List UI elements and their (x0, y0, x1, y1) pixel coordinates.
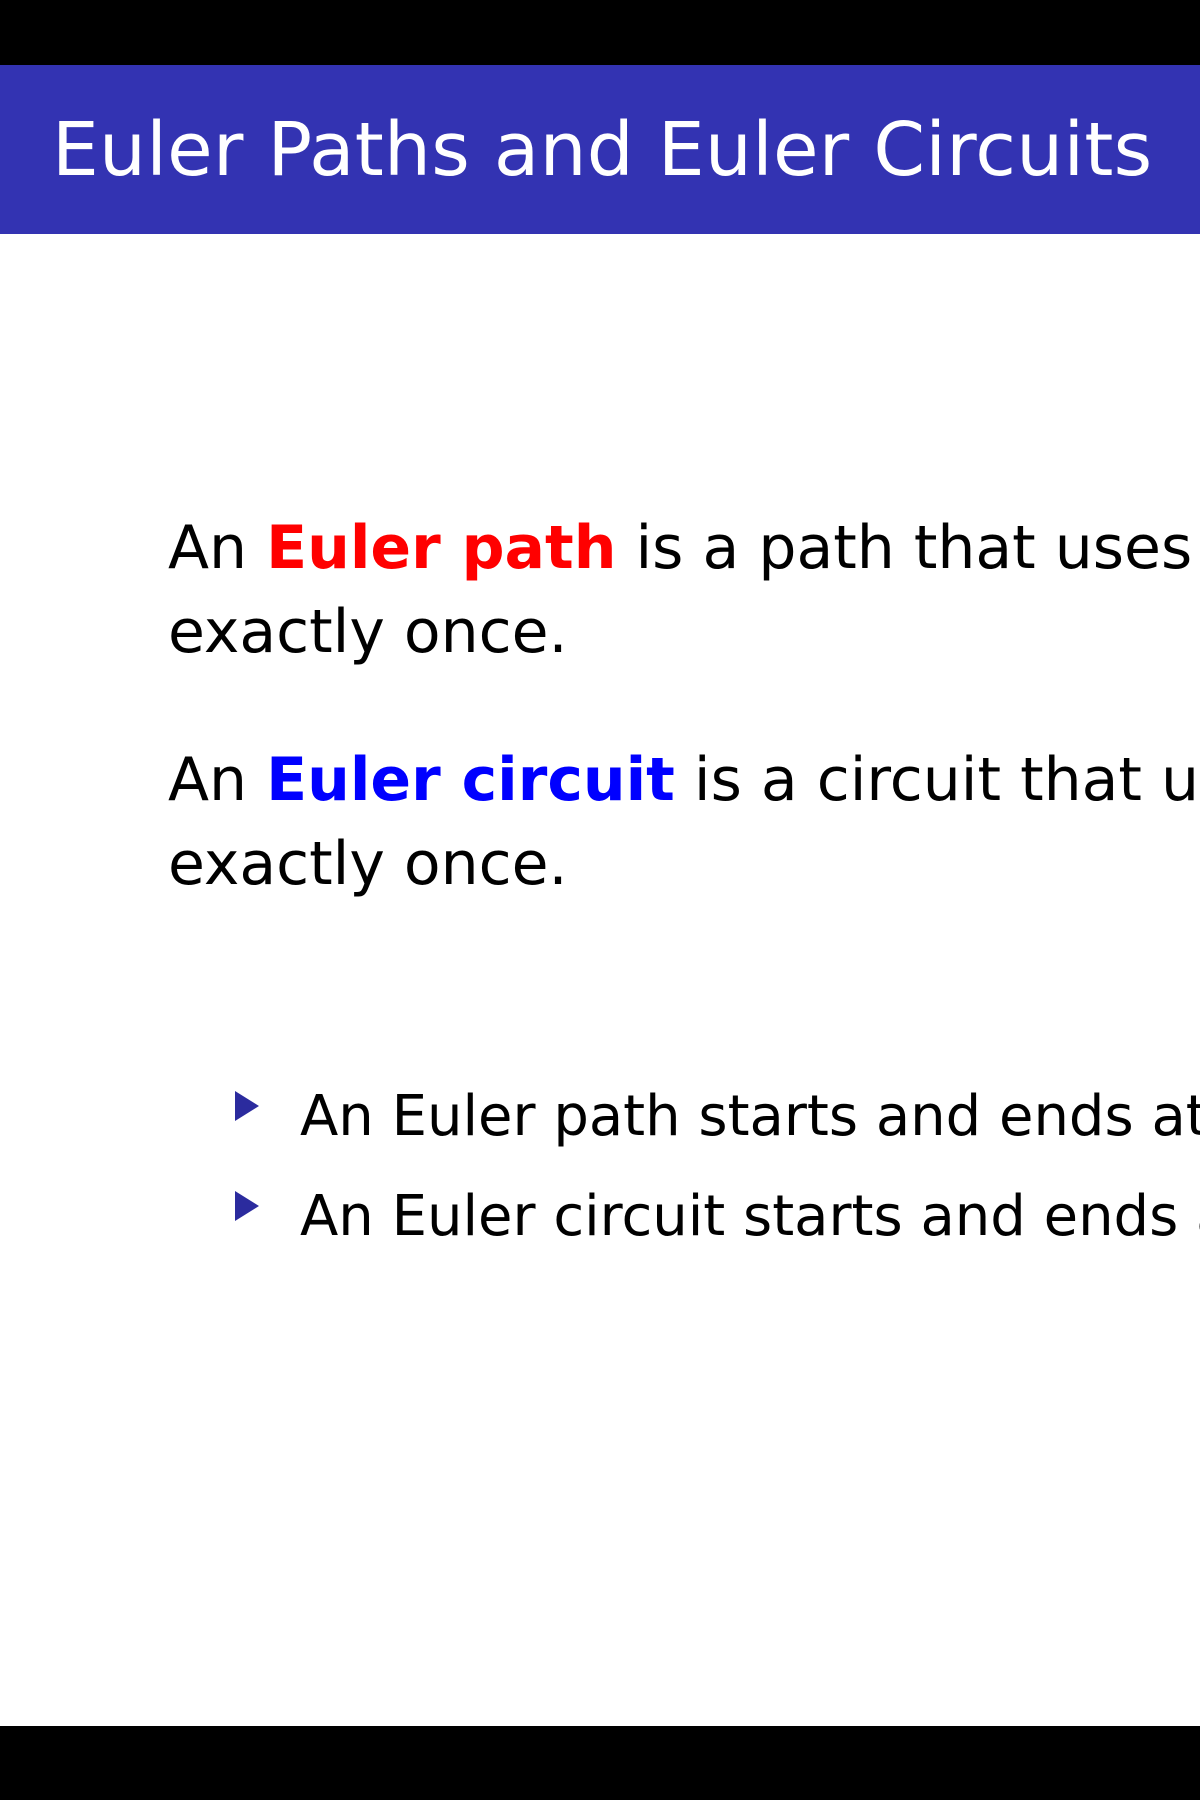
keyword-euler-path: Euler path (266, 513, 616, 583)
paragraph-euler-circuit-line-1: An Euler circuit is a circuit that uses … (168, 738, 1200, 822)
paragraph-euler-circuit-prefix: An (168, 745, 266, 815)
triangle-right-bullet-icon (232, 1189, 262, 1223)
paragraph-euler-path-suffix: is a path that uses every edge of a grap… (616, 513, 1200, 583)
triangle-right-bullet-icon (232, 1089, 262, 1123)
keyword-euler-circuit: Euler circuit (266, 745, 675, 815)
paragraph-euler-circuit-suffix: is a circuit that uses every edge of a g… (675, 745, 1200, 815)
paragraph-euler-circuit-line-2: exactly once. (168, 822, 1200, 906)
slide-stage: Euler Paths and Euler Circuits An Euler … (0, 0, 1200, 1800)
paragraph-euler-circuit: An Euler circuit is a circuit that uses … (168, 738, 1200, 906)
paragraph-euler-path: An Euler path is a path that uses every … (168, 506, 1200, 674)
bullet-list: An Euler path starts and ends at differe… (232, 1089, 1200, 1289)
slide-title: Euler Paths and Euler Circuits (52, 113, 1153, 187)
list-item-label: An Euler circuit starts and ends at the … (300, 1189, 1200, 1245)
slide-body: An Euler path is a path that uses every … (0, 234, 1200, 1726)
list-item: An Euler path starts and ends at differe… (232, 1089, 1200, 1189)
paragraph-euler-path-line-1: An Euler path is a path that uses every … (168, 506, 1200, 590)
letterbox-bottom-bar (0, 1726, 1200, 1800)
list-item: An Euler circuit starts and ends at the … (232, 1189, 1200, 1289)
paragraph-euler-path-line-2: exactly once. (168, 590, 1200, 674)
slide-title-bar: Euler Paths and Euler Circuits (0, 65, 1200, 234)
presentation-slide: Euler Paths and Euler Circuits An Euler … (0, 65, 1200, 1726)
paragraph-euler-path-prefix: An (168, 513, 266, 583)
list-item-label: An Euler path starts and ends at differe… (300, 1089, 1200, 1145)
letterbox-top-bar (0, 0, 1200, 65)
